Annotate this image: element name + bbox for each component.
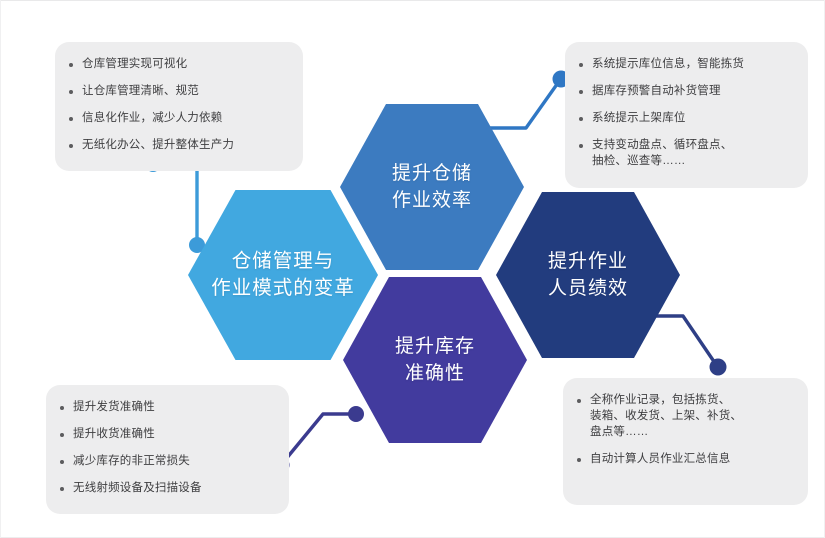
connector-dot-hex-accuracy bbox=[348, 406, 364, 422]
bullet-text: 系统提示上架库位 bbox=[592, 110, 686, 126]
bullet-icon bbox=[69, 144, 73, 148]
bullet-icon bbox=[577, 399, 581, 403]
list-item: 提升收货准确性 bbox=[60, 426, 273, 442]
info-card-top-right: 系统提示库位信息，智能拣货 据库存预警自动补货管理 系统提示上架库位 支持变动盘… bbox=[565, 42, 808, 188]
bullet-icon bbox=[577, 458, 581, 462]
bullet-text: 信息化作业，减少人力依赖 bbox=[82, 110, 222, 126]
list-item: 据库存预警自动补货管理 bbox=[579, 83, 792, 99]
bullet-text: 据库存预警自动补货管理 bbox=[592, 83, 721, 99]
bullet-text: 减少库存的非正常损失 bbox=[73, 453, 190, 469]
bullet-text: 全称作业记录，包括拣货、 装箱、收发货、上架、补货、 盘点等…… bbox=[590, 392, 742, 440]
bullet-text: 自动计算人员作业汇总信息 bbox=[590, 451, 730, 467]
list-item: 让仓库管理清晰、规范 bbox=[69, 83, 287, 99]
bullet-text: 支持变动盘点、循环盘点、 抽检、巡查等…… bbox=[592, 137, 732, 169]
bullet-icon bbox=[69, 63, 73, 67]
hexagon-accuracy[interactable]: 提升库存 准确性 bbox=[343, 277, 527, 443]
list-item: 系统提示上架库位 bbox=[579, 110, 792, 126]
hexagon-efficiency-label: 提升仓储 作业效率 bbox=[392, 160, 472, 214]
list-item: 信息化作业，减少人力依赖 bbox=[69, 110, 287, 126]
bullet-text: 让仓库管理清晰、规范 bbox=[82, 83, 199, 99]
bullet-icon bbox=[69, 117, 73, 121]
hexagon-core[interactable]: 仓储管理与 作业模式的变革 bbox=[188, 190, 378, 360]
bullet-icon bbox=[60, 406, 64, 410]
list-item: 自动计算人员作业汇总信息 bbox=[577, 451, 792, 467]
list-item: 无线射频设备及扫描设备 bbox=[60, 480, 273, 496]
bullet-icon bbox=[60, 487, 64, 491]
info-card-bottom-left: 提升发货准确性 提升收货准确性 减少库存的非正常损失 无线射频设备及扫描设备 bbox=[46, 385, 289, 514]
bullet-text: 无线射频设备及扫描设备 bbox=[73, 480, 202, 496]
infographic-canvas: 仓库管理实现可视化 让仓库管理清晰、规范 信息化作业，减少人力依赖 无纸化办公、… bbox=[0, 0, 825, 538]
bullet-icon bbox=[579, 117, 583, 121]
hexagon-performance-label: 提升作业 人员绩效 bbox=[548, 248, 628, 302]
info-card-bottom-right: 全称作业记录，包括拣货、 装箱、收发货、上架、补货、 盘点等…… 自动计算人员作… bbox=[563, 378, 808, 505]
bullet-text: 无纸化办公、提升整体生产力 bbox=[82, 137, 234, 153]
list-item: 提升发货准确性 bbox=[60, 399, 273, 415]
bullet-text: 系统提示库位信息，智能拣货 bbox=[592, 56, 744, 72]
bullet-icon bbox=[60, 460, 64, 464]
hexagon-accuracy-label: 提升库存 准确性 bbox=[395, 333, 475, 387]
list-item: 减少库存的非正常损失 bbox=[60, 453, 273, 469]
hexagon-performance[interactable]: 提升作业 人员绩效 bbox=[496, 192, 680, 358]
list-item: 系统提示库位信息，智能拣货 bbox=[579, 56, 792, 72]
bullet-icon bbox=[60, 433, 64, 437]
list-item: 仓库管理实现可视化 bbox=[69, 56, 287, 72]
bullet-icon bbox=[579, 144, 583, 148]
info-card-top-left: 仓库管理实现可视化 让仓库管理清晰、规范 信息化作业，减少人力依赖 无纸化办公、… bbox=[55, 42, 303, 171]
bullet-text: 提升收货准确性 bbox=[73, 426, 155, 442]
bullet-icon bbox=[579, 63, 583, 67]
list-item: 支持变动盘点、循环盘点、 抽检、巡查等…… bbox=[579, 137, 792, 169]
frame-line-top bbox=[0, 0, 825, 1]
frame-line-left bbox=[0, 0, 1, 538]
hexagon-efficiency[interactable]: 提升仓储 作业效率 bbox=[340, 104, 524, 270]
list-item: 无纸化办公、提升整体生产力 bbox=[69, 137, 287, 153]
bullet-text: 提升发货准确性 bbox=[73, 399, 155, 415]
bullet-icon bbox=[579, 90, 583, 94]
bullet-icon bbox=[69, 90, 73, 94]
bullet-text: 仓库管理实现可视化 bbox=[82, 56, 187, 72]
connector-dot-card-bottom-right bbox=[710, 359, 727, 376]
hexagon-core-label: 仓储管理与 作业模式的变革 bbox=[211, 248, 355, 302]
list-item: 全称作业记录，包括拣货、 装箱、收发货、上架、补货、 盘点等…… bbox=[577, 392, 792, 440]
